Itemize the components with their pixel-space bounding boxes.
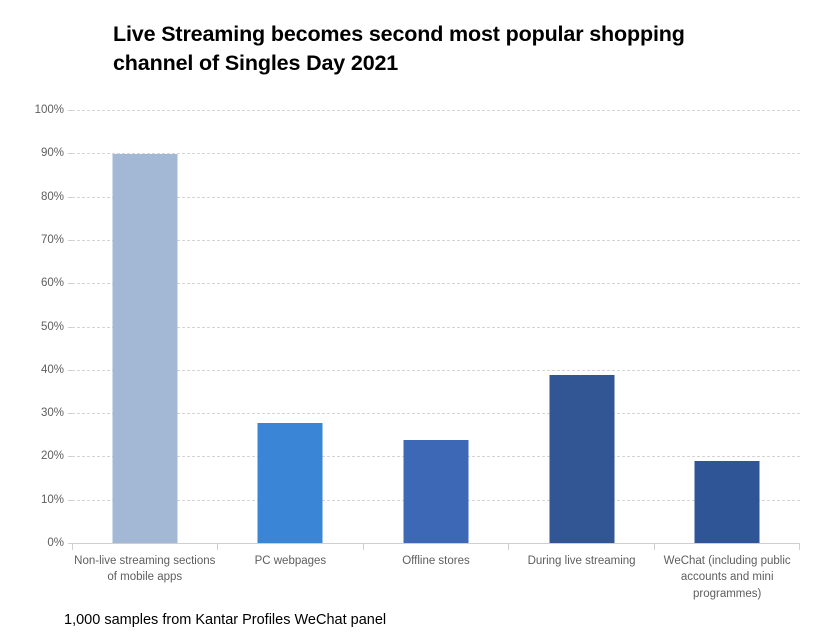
x-axis-tick	[508, 543, 653, 550]
bar[interactable]	[403, 440, 468, 543]
x-axis-tick	[654, 543, 800, 550]
x-axis-ticks	[72, 543, 800, 550]
bar-slot	[509, 110, 655, 543]
plot-area: 100%90%80%70%60%50%40%30%20%10%0%	[72, 110, 800, 543]
bar-chart: Live Streaming becomes second most popul…	[0, 0, 826, 643]
y-axis-tick-label: 80%	[41, 191, 64, 203]
x-axis-category-label: WeChat (including public accounts and mi…	[654, 553, 800, 602]
bar[interactable]	[549, 375, 614, 543]
y-axis-tick-label: 20%	[41, 450, 64, 462]
bar[interactable]	[695, 461, 760, 543]
bar[interactable]	[112, 154, 177, 543]
x-axis-labels: Non-live streaming sections of mobile ap…	[72, 553, 800, 602]
y-axis-tick-label: 50%	[41, 321, 64, 333]
bar-slot	[218, 110, 364, 543]
y-axis-tick-label: 10%	[41, 494, 64, 506]
y-axis-tick-label: 60%	[41, 277, 64, 289]
bars-layer	[72, 110, 800, 543]
x-axis-category-label: During live streaming	[509, 553, 655, 602]
y-axis-tick-label: 30%	[41, 407, 64, 419]
y-axis-tick-label: 90%	[41, 147, 64, 159]
x-axis-category-label: PC webpages	[218, 553, 364, 602]
x-axis-tick	[217, 543, 362, 550]
y-axis-tick-label: 40%	[41, 364, 64, 376]
x-axis-category-label: Non-live streaming sections of mobile ap…	[72, 553, 218, 602]
chart-title: Live Streaming becomes second most popul…	[113, 20, 753, 78]
x-axis-category-label: Offline stores	[363, 553, 509, 602]
y-axis-tick-label: 100%	[35, 104, 64, 116]
y-axis-tick-label: 70%	[41, 234, 64, 246]
x-axis-tick	[72, 543, 217, 550]
bar-slot	[72, 110, 218, 543]
bar[interactable]	[258, 423, 323, 543]
bar-slot	[654, 110, 800, 543]
x-axis-tick	[363, 543, 508, 550]
y-axis-tick-label: 0%	[47, 537, 64, 549]
bar-slot	[363, 110, 509, 543]
chart-footnote: 1,000 samples from Kantar Profiles WeCha…	[64, 612, 386, 628]
